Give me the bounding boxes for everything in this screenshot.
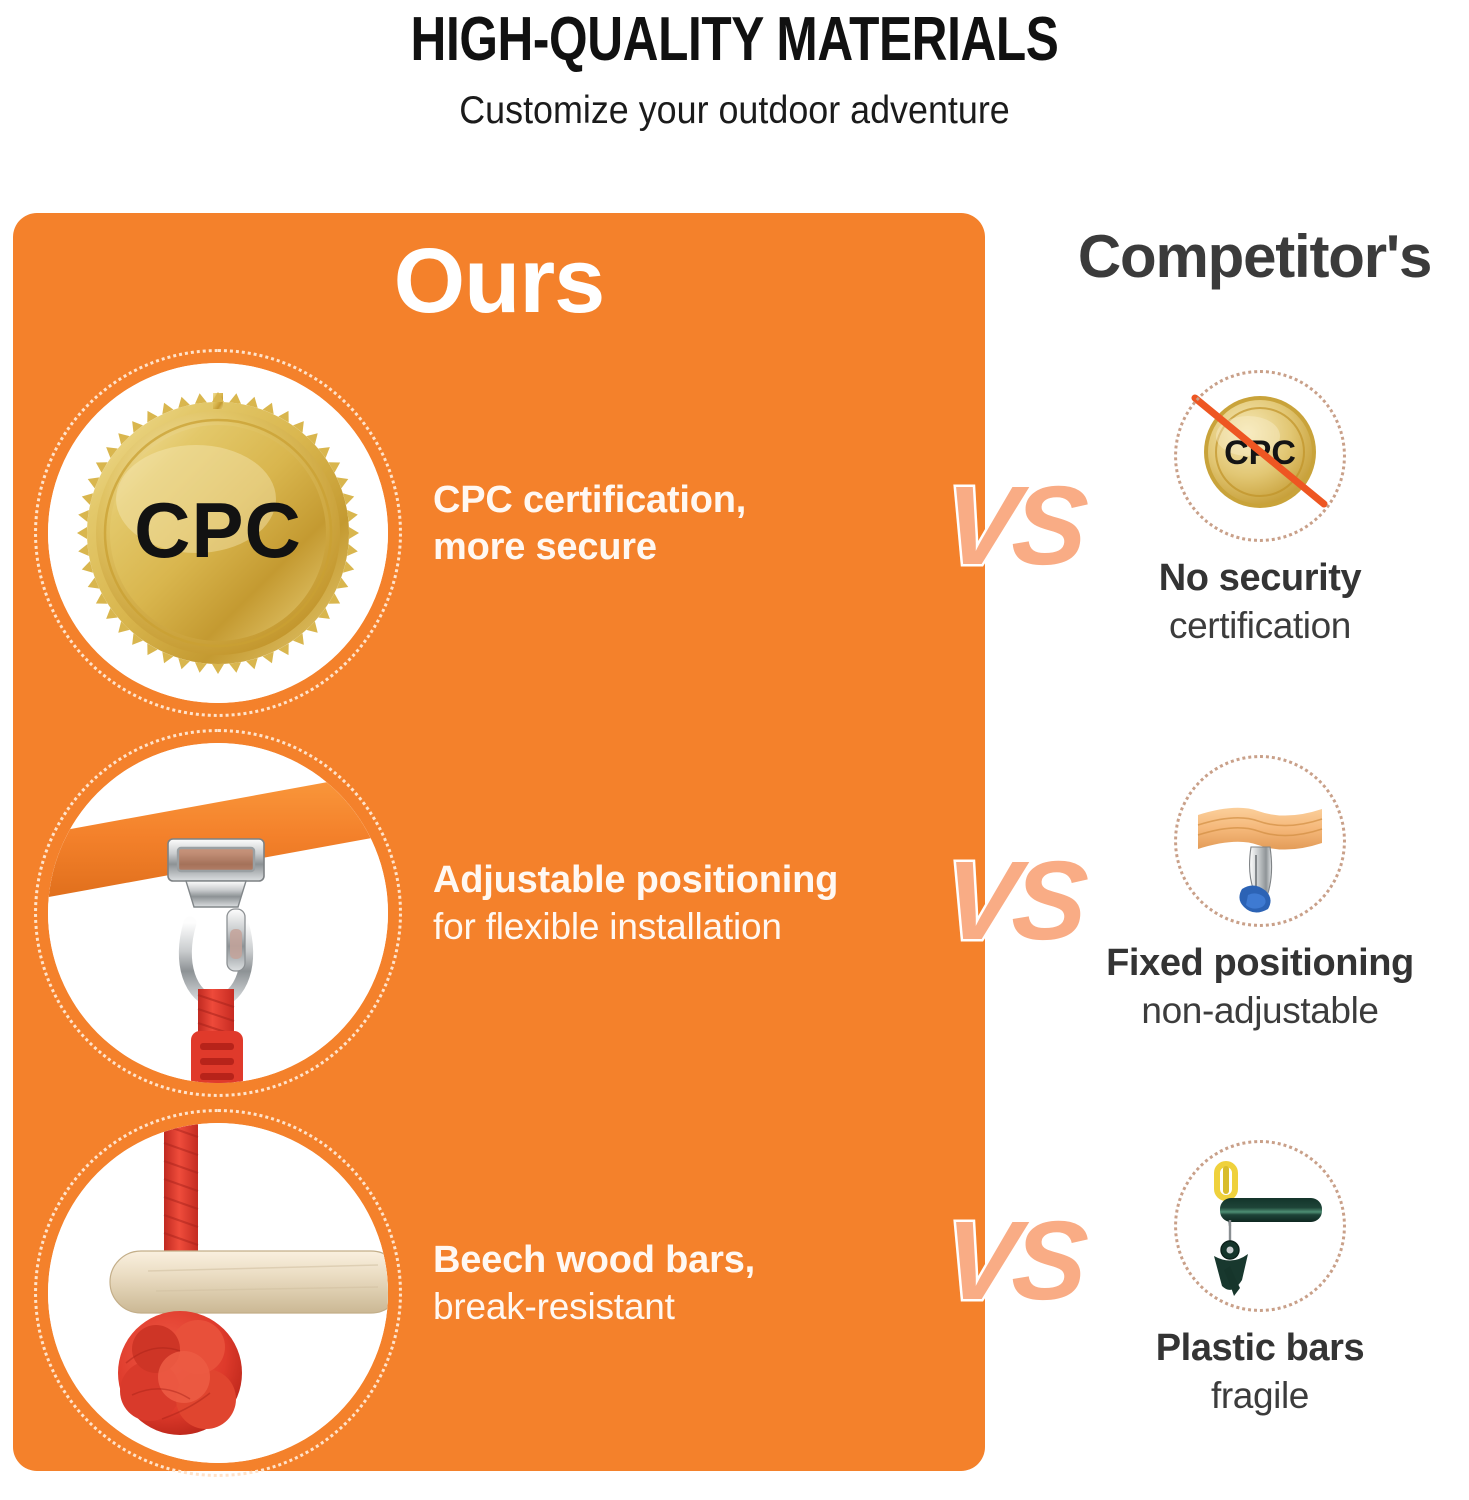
cpc-gold-seal-photo: CPC [48, 363, 388, 703]
ours-feature-line1: Adjustable positioning [433, 857, 973, 904]
adjustable-strap-buckle-photo [48, 743, 388, 1083]
ours-feature-line2: for flexible installation [433, 904, 973, 950]
dotted-circle-decoration [1174, 1140, 1346, 1312]
competitor-feature-line2: non-adjustable [1070, 987, 1450, 1035]
competitor-heading: Competitor's [1040, 222, 1469, 292]
ours-feature-line2: break-resistant [433, 1284, 973, 1330]
ours-feature-row: Adjustable positioning for flexible inst… [13, 733, 985, 1093]
fixed-strap-hook-icon [1174, 755, 1346, 927]
ours-feature-line2: more secure [433, 524, 973, 571]
competitor-feature-line2: certification [1070, 602, 1450, 650]
ours-feature-row: Beech wood bars, break-resistant [13, 1113, 985, 1473]
ours-feature-line1: CPC certification, [433, 477, 973, 524]
ours-feature-row: CPC CPC certification, more secure [13, 353, 985, 713]
beech-wood-bar-rope-photo [48, 1123, 388, 1463]
competitor-feature-line1: Plastic bars [1070, 1324, 1450, 1372]
ours-feature-text: Beech wood bars, break-resistant [433, 1237, 973, 1330]
competitor-feature-row: CPC No security certification [1070, 370, 1450, 650]
page-subtitle: Customize your outdoor adventure [59, 76, 1410, 134]
competitor-feature-line1: Fixed positioning [1070, 939, 1450, 987]
ours-feature-line1: Beech wood bars, [433, 1237, 973, 1284]
competitor-feature-row: Plastic bars fragile [1070, 1140, 1450, 1420]
dotted-circle-decoration [1174, 370, 1346, 542]
competitor-feature-row: Fixed positioning non-adjustable [1070, 755, 1450, 1035]
ours-feature-text: CPC certification, more secure [433, 477, 973, 571]
competitor-feature-line1: No security [1070, 554, 1450, 602]
ours-feature-text: Adjustable positioning for flexible inst… [433, 857, 973, 950]
versus-badge: VS [940, 1205, 1085, 1317]
competitor-feature-line2: fragile [1070, 1372, 1450, 1420]
plastic-bar-hook-icon [1174, 1140, 1346, 1312]
seal-label: CPC [134, 486, 302, 574]
versus-badge: VS [940, 470, 1085, 582]
ours-heading: Ours [13, 231, 985, 331]
versus-badge: VS [940, 845, 1085, 957]
ours-panel: Ours [13, 213, 985, 1471]
page-header: HIGH-QUALITY MATERIALS Customize your ou… [0, 0, 1469, 134]
cpc-seal-crossed-out-icon: CPC [1174, 370, 1346, 542]
dotted-circle-decoration [1174, 755, 1346, 927]
page-title: HIGH-QUALITY MATERIALS [147, 0, 1322, 76]
